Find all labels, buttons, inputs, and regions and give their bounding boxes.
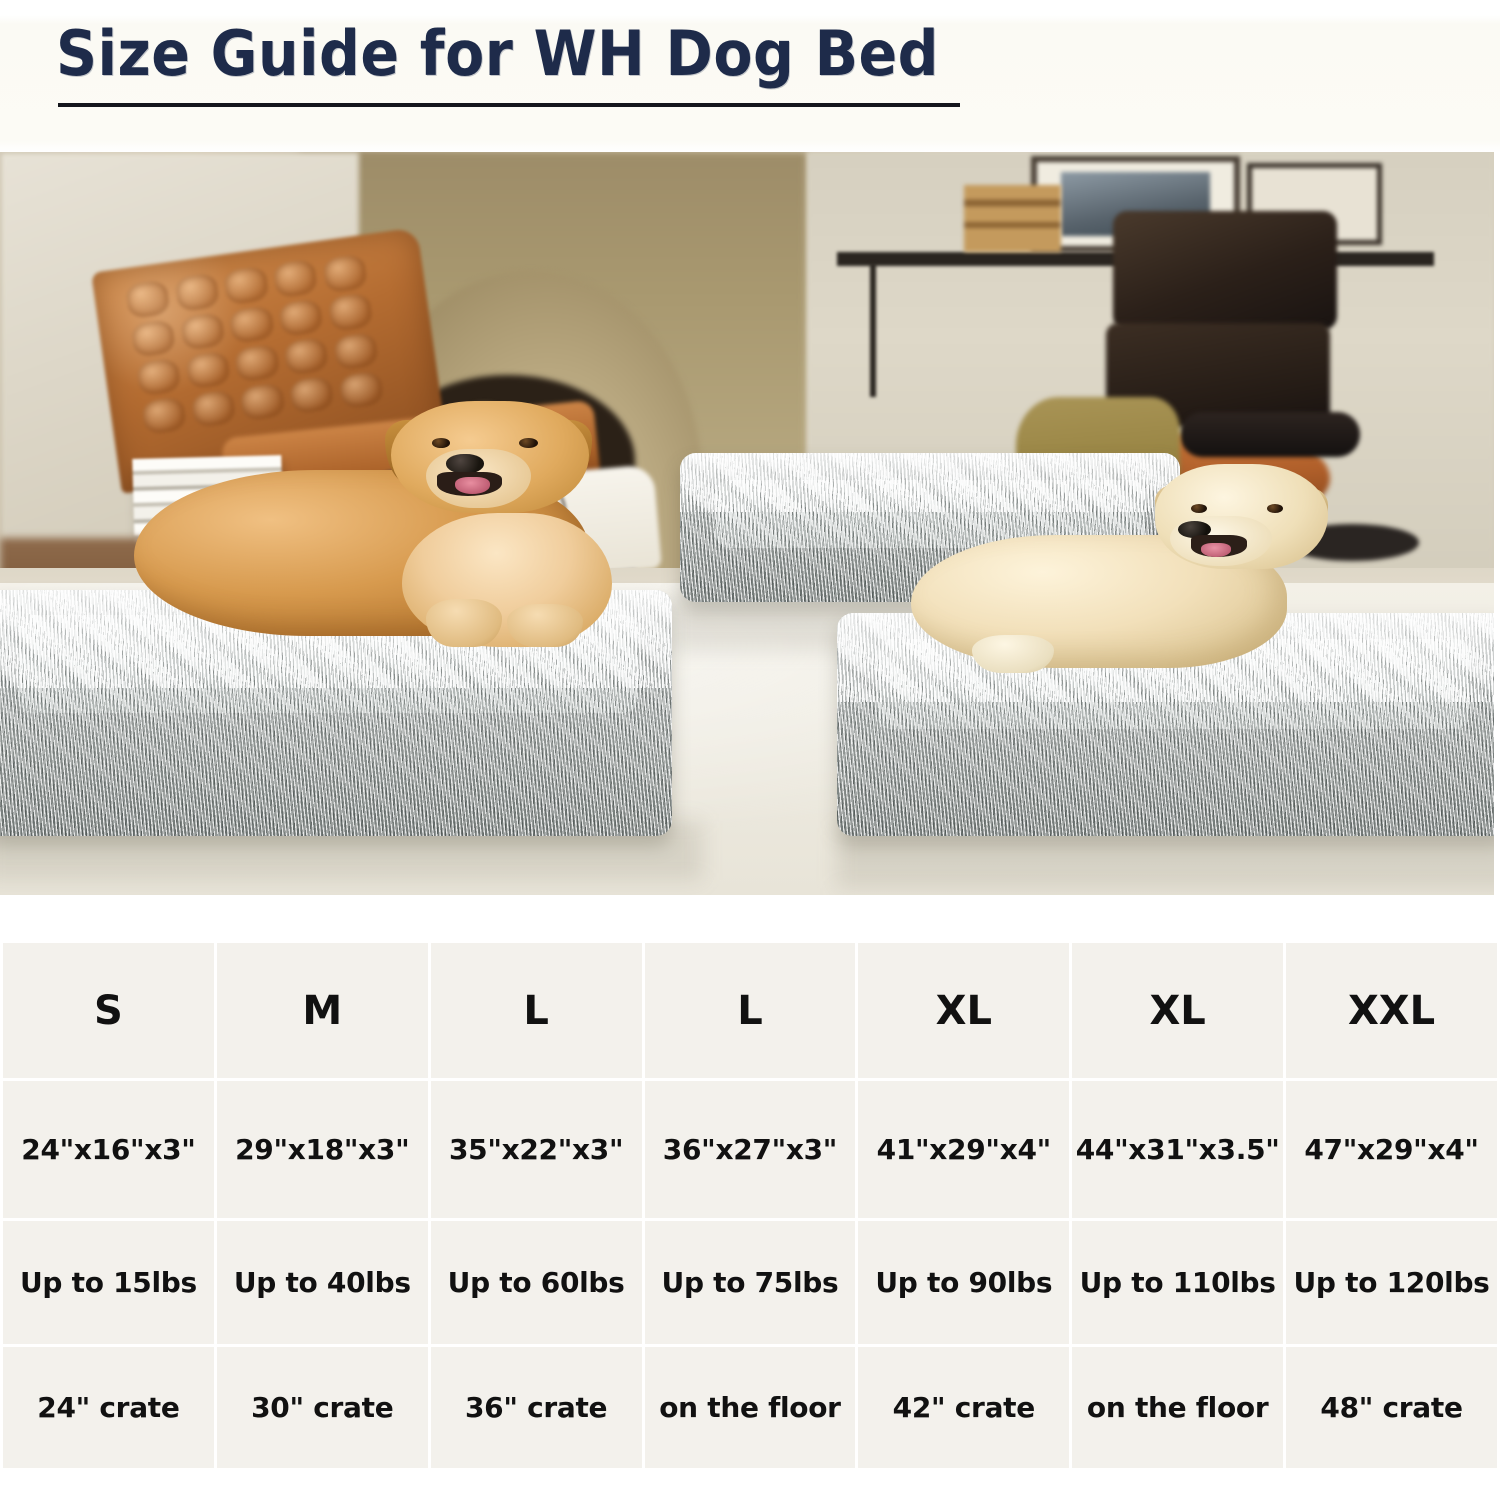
retriever-front-paw-left: [426, 599, 502, 647]
cell-dim-6: 44"x31"x3.5": [1071, 1080, 1285, 1220]
cell-placement-6: on the floor: [1071, 1346, 1285, 1470]
labrador-tongue: [1201, 543, 1231, 557]
cell-weight-3: Up to 60lbs: [429, 1220, 643, 1346]
retriever-front-paw-right: [507, 604, 583, 647]
photo-scene: [0, 152, 1494, 895]
cell-size-7: XXL: [1285, 942, 1499, 1080]
cell-size-2: M: [215, 942, 429, 1080]
yellow-labrador: [911, 464, 1419, 702]
cell-placement-3: 36" crate: [429, 1346, 643, 1470]
size-guide-page: Size Guide for WH Dog Bed: [0, 0, 1500, 1500]
cell-dim-4: 36"x27"x3": [643, 1080, 857, 1220]
labrador-front-paw: [972, 635, 1053, 673]
cell-size-6: XL: [1071, 942, 1285, 1080]
cell-size-1: S: [2, 942, 216, 1080]
table-row-size: S M L L XL XL XXL: [2, 942, 1499, 1080]
cell-dim-1: 24"x16"x3": [2, 1080, 216, 1220]
product-lifestyle-photo: [0, 152, 1494, 895]
decor-box: [964, 185, 1061, 252]
cell-size-4: L: [643, 942, 857, 1080]
golden-retriever: [134, 401, 717, 668]
cell-dim-5: 41"x29"x4": [857, 1080, 1071, 1220]
cell-dim-7: 47"x29"x4": [1285, 1080, 1499, 1220]
cell-weight-5: Up to 90lbs: [857, 1220, 1071, 1346]
cell-weight-4: Up to 75lbs: [643, 1220, 857, 1346]
eames-headrest: [1113, 211, 1337, 330]
cell-placement-7: 48" crate: [1285, 1346, 1499, 1470]
cell-dim-3: 35"x22"x3": [429, 1080, 643, 1220]
cell-placement-4: on the floor: [643, 1346, 857, 1470]
table-row-weight: Up to 15lbs Up to 40lbs Up to 60lbs Up t…: [2, 1220, 1499, 1346]
cell-dim-2: 29"x18"x3": [215, 1080, 429, 1220]
cell-placement-1: 24" crate: [2, 1346, 216, 1470]
table-row-dimensions: 24"x16"x3" 29"x18"x3" 35"x22"x3" 36"x27"…: [2, 1080, 1499, 1220]
size-guide-table: S M L L XL XL XXL 24"x16"x3" 29"x18"x3" …: [0, 940, 1500, 1471]
cell-size-3: L: [429, 942, 643, 1080]
page-title: Size Guide for WH Dog Bed: [56, 17, 939, 90]
cell-weight-7: Up to 120lbs: [1285, 1220, 1499, 1346]
cell-weight-2: Up to 40lbs: [215, 1220, 429, 1346]
size-table-container: S M L L XL XL XXL 24"x16"x3" 29"x18"x3" …: [0, 940, 1500, 1468]
title-underline: [58, 103, 960, 107]
cell-weight-1: Up to 15lbs: [2, 1220, 216, 1346]
table-row-placement: 24" crate 30" crate 36" crate on the flo…: [2, 1346, 1499, 1470]
page-header: Size Guide for WH Dog Bed: [0, 0, 1500, 152]
cell-size-5: XL: [857, 942, 1071, 1080]
shelf-leg: [870, 263, 877, 397]
eames-armrest: [1180, 412, 1359, 457]
cell-weight-6: Up to 110lbs: [1071, 1220, 1285, 1346]
cell-placement-5: 42" crate: [857, 1346, 1071, 1470]
cell-placement-2: 30" crate: [215, 1346, 429, 1470]
